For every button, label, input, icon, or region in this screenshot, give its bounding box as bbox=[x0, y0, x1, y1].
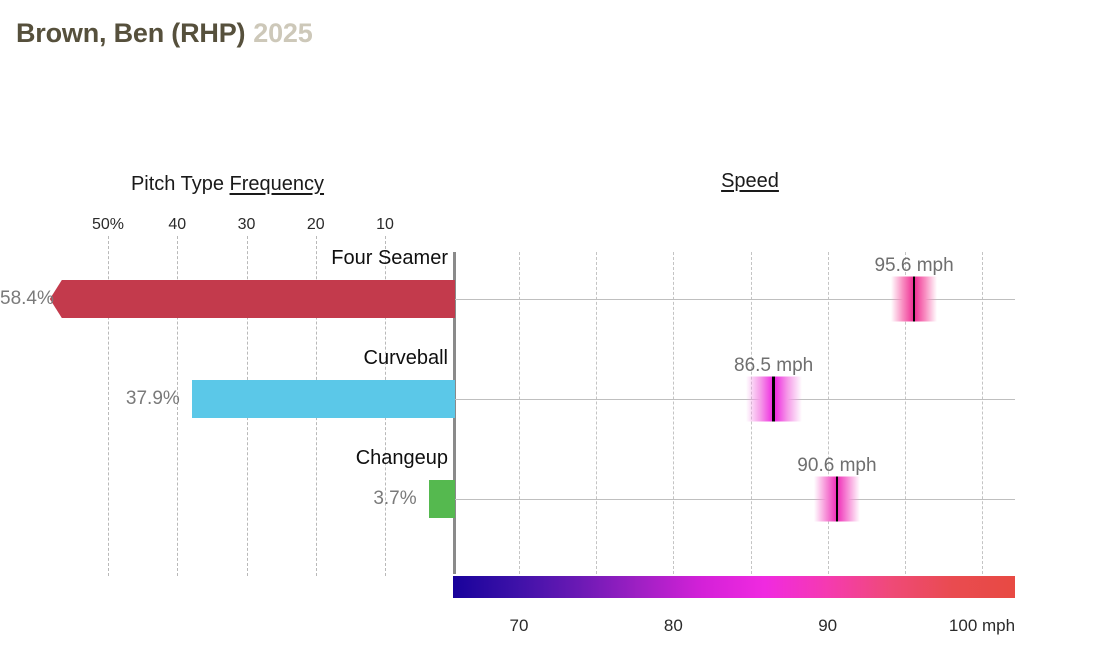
speed-gridline bbox=[828, 252, 830, 574]
speed-tick-label: 100 mph bbox=[949, 616, 1015, 636]
frequency-tick-label: 10 bbox=[376, 216, 394, 234]
frequency-bar[interactable] bbox=[192, 380, 455, 418]
speed-tick-label: 70 bbox=[510, 616, 529, 636]
speed-tick-label: 80 bbox=[664, 616, 683, 636]
frequency-tick-label: 20 bbox=[307, 216, 325, 234]
frequency-tick-label: 50% bbox=[92, 216, 124, 234]
speed-median-tick bbox=[913, 277, 916, 322]
speed-baseline bbox=[455, 499, 1015, 500]
speed-density-marker[interactable] bbox=[891, 277, 937, 322]
pitch-type-label: Curveball bbox=[364, 347, 448, 370]
frequency-bar[interactable] bbox=[429, 480, 455, 518]
frequency-value-label: 37.9% bbox=[0, 388, 180, 410]
speed-gridline bbox=[596, 252, 598, 574]
frequency-value-label: 58.4% bbox=[0, 288, 38, 310]
frequency-tick-label: 30 bbox=[238, 216, 256, 234]
speed-value-label: 86.5 mph bbox=[734, 355, 813, 377]
speed-gridline bbox=[519, 252, 521, 574]
speed-gridline bbox=[982, 252, 984, 574]
speed-median-tick bbox=[772, 377, 775, 422]
pitch-summary-chart: 50%40302010 Four Seamer58.4%95.6 mphCurv… bbox=[0, 0, 1100, 664]
frequency-bar[interactable] bbox=[50, 280, 455, 318]
speed-value-label: 90.6 mph bbox=[797, 455, 876, 477]
speed-gridline bbox=[673, 252, 675, 574]
speed-colorbar bbox=[453, 576, 1015, 598]
speed-baseline bbox=[455, 399, 1015, 400]
speed-density-marker[interactable] bbox=[814, 477, 860, 522]
speed-value-label: 95.6 mph bbox=[874, 255, 953, 277]
pitch-type-label: Changeup bbox=[356, 447, 448, 470]
speed-tick-label: 90 bbox=[818, 616, 837, 636]
frequency-value-label: 3.7% bbox=[0, 488, 417, 510]
pitch-type-label: Four Seamer bbox=[331, 247, 448, 270]
frequency-tick-label: 40 bbox=[168, 216, 186, 234]
speed-density-marker[interactable] bbox=[746, 377, 802, 422]
speed-median-tick bbox=[836, 477, 839, 522]
